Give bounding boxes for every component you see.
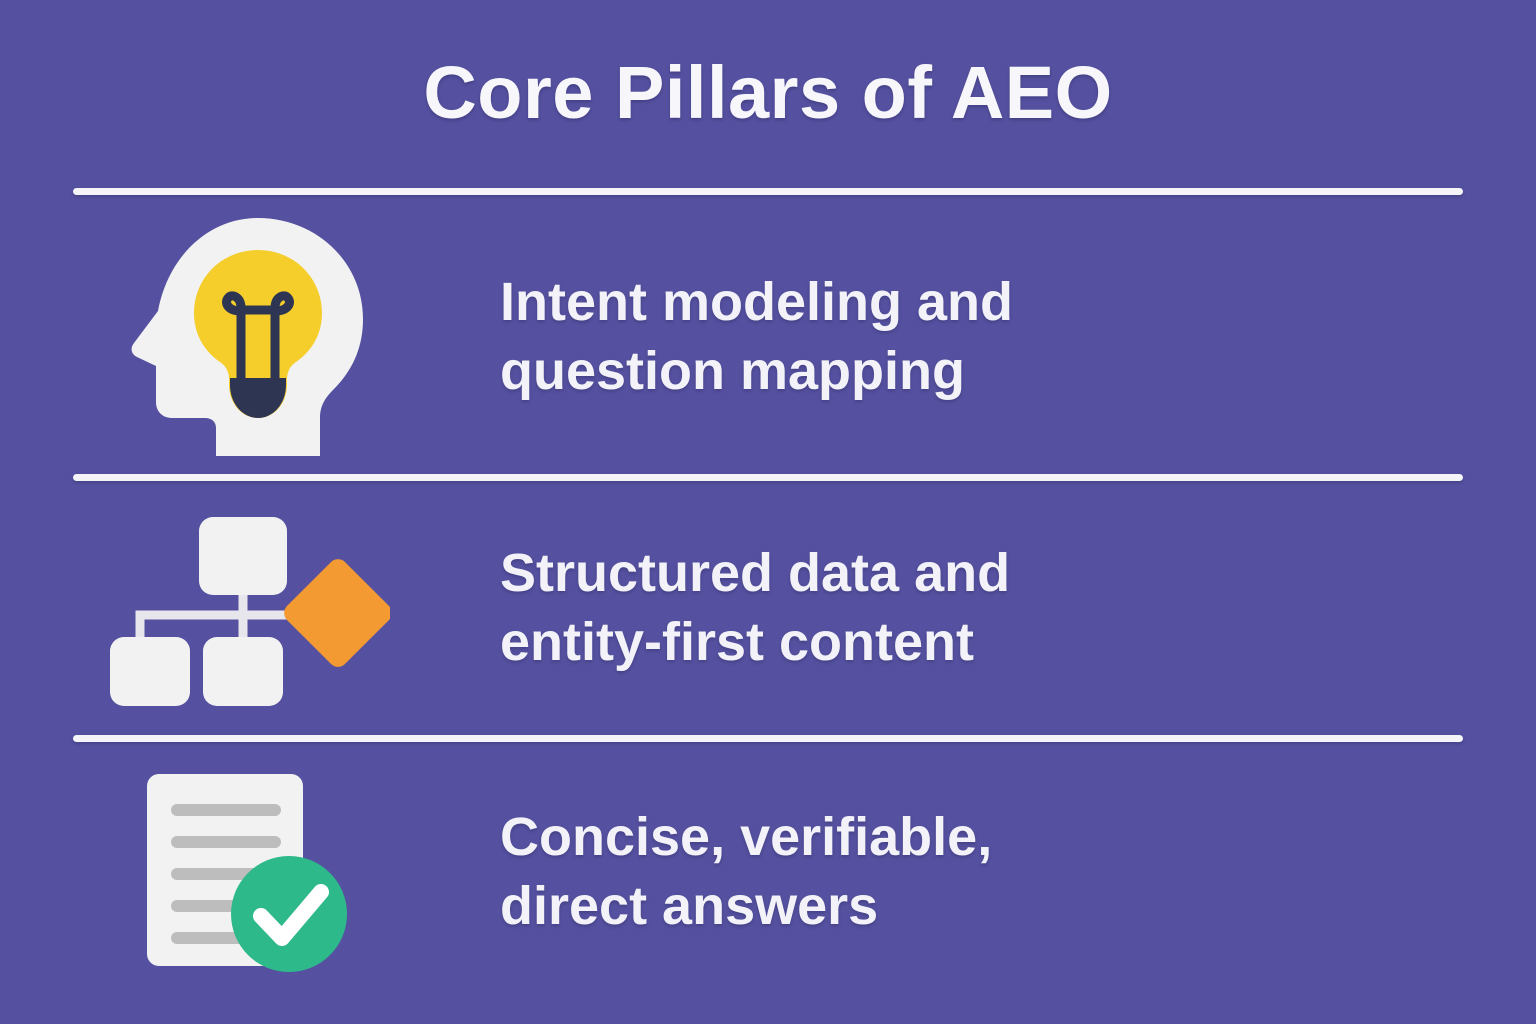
pillar-3-icon-cell bbox=[0, 770, 500, 975]
pillar-1-text: Intent modeling and question mapping bbox=[500, 268, 1476, 406]
divider-bottom bbox=[73, 735, 1463, 742]
pillar-2-line-1: Structured data and bbox=[500, 539, 1476, 608]
divider-middle bbox=[73, 474, 1463, 481]
pillar-row-1: Intent modeling and question mapping bbox=[0, 200, 1536, 474]
pillar-2-icon-cell bbox=[0, 511, 500, 706]
node-hierarchy-icon bbox=[110, 511, 390, 706]
pillar-3-text: Concise, verifiable, direct answers bbox=[500, 803, 1476, 941]
pillar-1-line-2: question mapping bbox=[500, 337, 1476, 406]
pillar-3-line-2: direct answers bbox=[500, 872, 1476, 941]
pillar-1-text-cell: Intent modeling and question mapping bbox=[500, 268, 1536, 406]
pillar-row-3: Concise, verifiable, direct answers bbox=[0, 742, 1536, 1002]
page-title: Core Pillars of AEO bbox=[0, 56, 1536, 130]
divider-top bbox=[73, 188, 1463, 195]
infographic-canvas: Core Pillars of AEO bbox=[0, 0, 1536, 1024]
pillar-3-text-cell: Concise, verifiable, direct answers bbox=[500, 803, 1536, 941]
pillar-2-line-2: entity-first content bbox=[500, 608, 1476, 677]
head-lightbulb-icon bbox=[120, 212, 380, 462]
pillar-row-2: Structured data and entity-first content bbox=[0, 481, 1536, 735]
document-check-icon bbox=[143, 770, 358, 975]
pillar-2-text: Structured data and entity-first content bbox=[500, 539, 1476, 677]
pillar-2-text-cell: Structured data and entity-first content bbox=[500, 539, 1536, 677]
pillar-1-icon-cell bbox=[0, 212, 500, 462]
pillar-3-line-1: Concise, verifiable, bbox=[500, 803, 1476, 872]
pillar-1-line-1: Intent modeling and bbox=[500, 268, 1476, 337]
